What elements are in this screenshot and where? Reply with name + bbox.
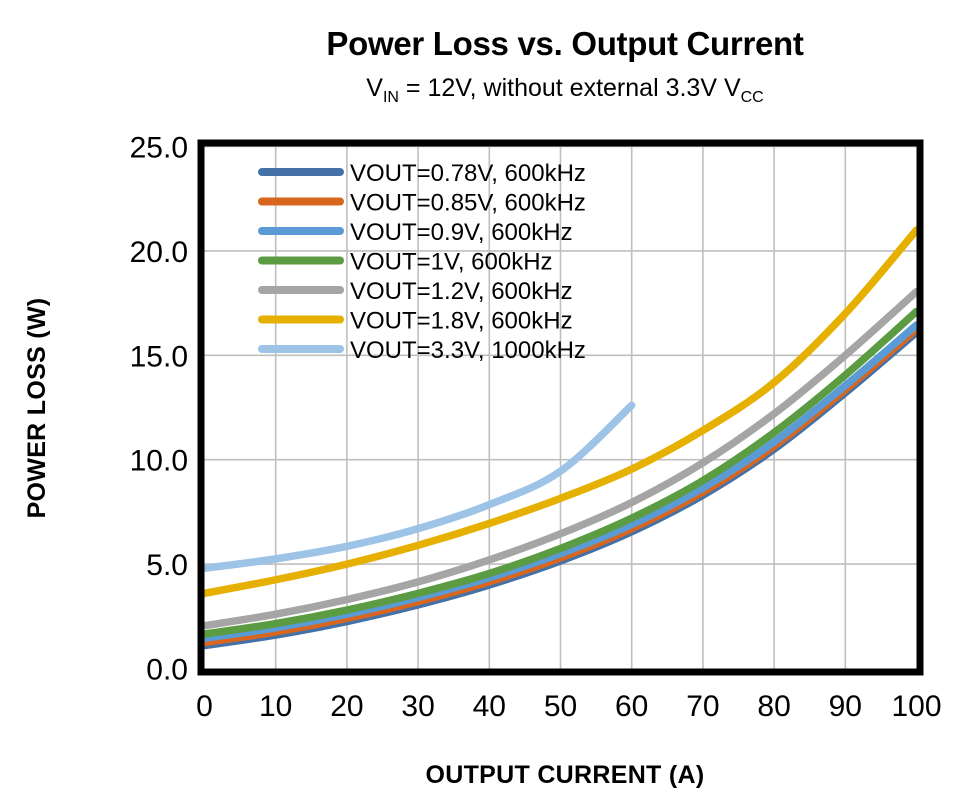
x-tick-label: 70 (686, 690, 719, 723)
x-tick-label: 60 (615, 690, 648, 723)
subtitle-part-mid: = 12V, without external 3.3V V (399, 74, 741, 102)
x-axis-title: OUTPUT CURRENT (A) (426, 761, 705, 789)
x-tick-label: 10 (259, 690, 292, 723)
subtitle-subscript-in: IN (383, 89, 399, 106)
subtitle-part-vin: V (366, 74, 383, 102)
chart-subtitle: VIN = 12V, without external 3.3V VCC (366, 74, 763, 106)
y-tick-label: 25.0 (130, 132, 188, 165)
x-tick-label: 30 (401, 690, 434, 723)
legend-label: VOUT=3.3V, 1000kHz (350, 337, 586, 364)
chart-title: Power Loss vs. Output Current (326, 25, 804, 62)
power-loss-chart: Power Loss vs. Output Current VIN = 12V,… (0, 0, 980, 803)
subtitle-subscript-cc: CC (741, 89, 764, 106)
legend-label: VOUT=0.85V, 600kHz (350, 190, 586, 217)
chart-canvas: Power Loss vs. Output Current VIN = 12V,… (0, 0, 980, 803)
x-tick-label: 50 (544, 690, 577, 723)
legend-label: VOUT=1.8V, 600kHz (350, 308, 573, 335)
y-tick-label: 20.0 (130, 236, 188, 269)
x-tick-label: 80 (757, 690, 790, 723)
y-tick-label: 5.0 (146, 549, 188, 582)
y-axis-title: POWER LOSS (W) (23, 298, 51, 519)
legend-label: VOUT=1V, 600kHz (350, 249, 553, 276)
x-tick-label: 100 (891, 690, 941, 723)
x-tick-label: 20 (330, 690, 363, 723)
x-tick-label: 40 (473, 690, 506, 723)
y-tick-label: 10.0 (130, 445, 188, 478)
x-tick-label: 90 (829, 690, 862, 723)
legend-label: VOUT=1.2V, 600kHz (350, 278, 573, 305)
y-tick-label: 15.0 (130, 340, 188, 373)
y-tick-label: 0.0 (146, 654, 188, 687)
x-tick-label: 0 (196, 690, 213, 723)
legend-label: VOUT=0.78V, 600kHz (350, 160, 586, 187)
legend-label: VOUT=0.9V, 600kHz (350, 219, 573, 246)
